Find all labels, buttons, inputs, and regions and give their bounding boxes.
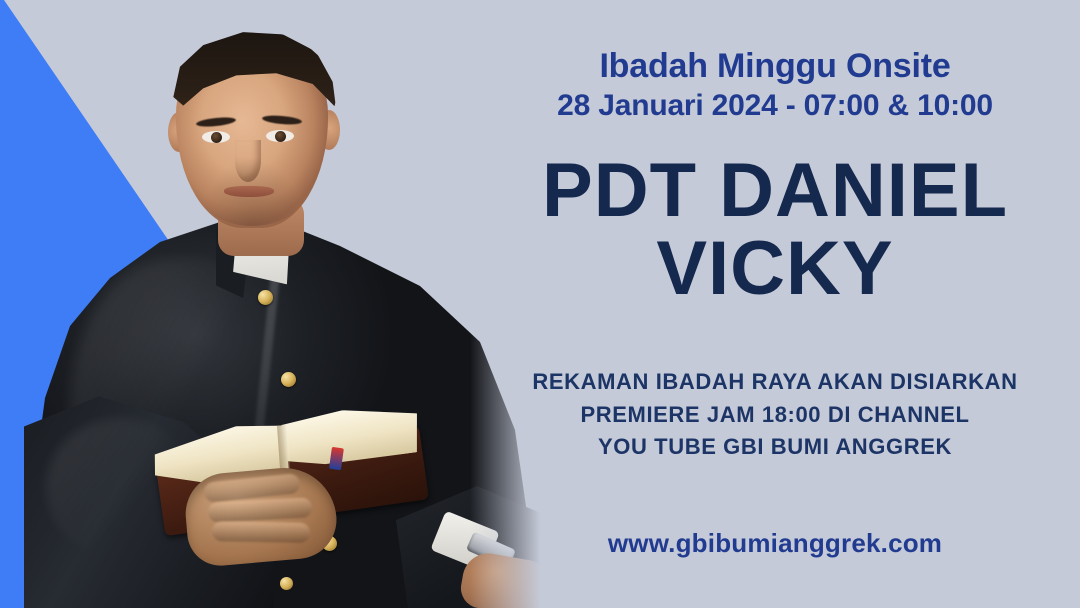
website-url[interactable]: www.gbibumianggrek.com bbox=[470, 528, 1080, 559]
notice-line-1: REKAMAN IBADAH RAYA AKAN DISIARKAN bbox=[470, 366, 1080, 399]
speaker-name: PDT DANIEL VICKY bbox=[470, 152, 1080, 307]
notice-line-3: YOU TUBE GBI BUMI ANGGREK bbox=[470, 431, 1080, 464]
event-title: Ibadah Minggu Onsite bbox=[599, 47, 950, 85]
event-datetime: 28 Januari 2024 - 07:00 & 10:00 bbox=[470, 88, 1080, 123]
speaker-name-line2: VICKY bbox=[470, 230, 1080, 308]
text-column: Ibadah Minggu Onsite 28 Januari 2024 - 0… bbox=[470, 0, 1080, 608]
event-header: Ibadah Minggu Onsite 28 Januari 2024 - 0… bbox=[470, 46, 1080, 124]
broadcast-notice: REKAMAN IBADAH RAYA AKAN DISIARKAN PREMI… bbox=[470, 366, 1080, 464]
speaker-name-line1: PDT DANIEL bbox=[542, 148, 1008, 233]
notice-line-2: PREMIERE JAM 18:00 DI CHANNEL bbox=[470, 399, 1080, 432]
flyer-canvas: Ibadah Minggu Onsite 28 Januari 2024 - 0… bbox=[0, 0, 1080, 608]
